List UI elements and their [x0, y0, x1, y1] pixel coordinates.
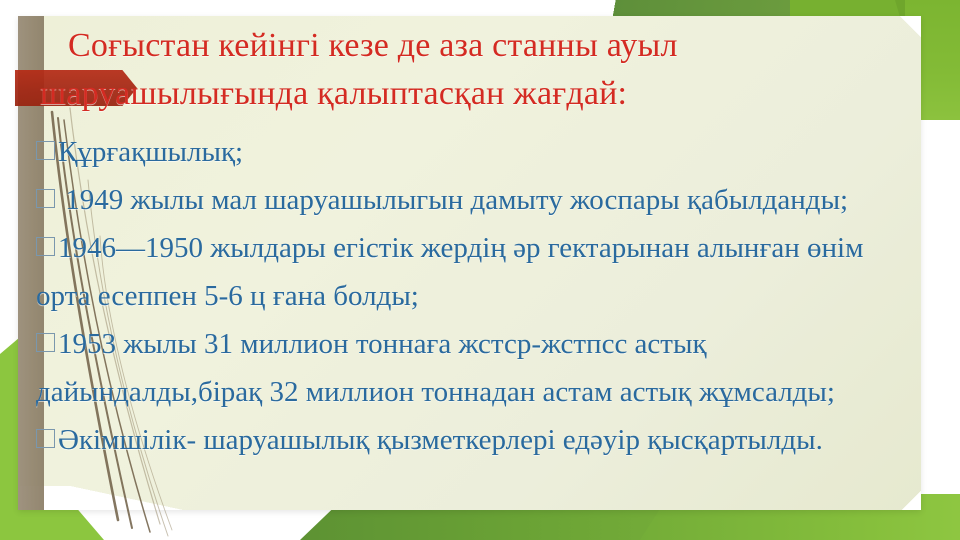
square-bullet-icon [36, 141, 55, 160]
slide-title: Соғыстан кейінгі кезе де аза станны ауыл… [40, 22, 900, 118]
square-bullet-icon [36, 237, 55, 256]
list-item-label: Құрғақшылық; [58, 136, 243, 168]
list-item: Әкімшілік- шаруашылық қызметкерлері едәу… [36, 416, 916, 464]
list-item: 1946—1950 жылдары егістік жердің әр гект… [36, 224, 916, 320]
list-item: 1949 жылы мал шаруашылыгын дамыту жоспар… [36, 176, 916, 224]
list-item-label: 1953 жылы 31 миллион тоннаға жстср-жстпс… [36, 328, 835, 408]
square-bullet-icon [36, 429, 55, 448]
list-item: 1953 жылы 31 миллион тоннаға жстср-жстпс… [36, 320, 916, 416]
list-item-label: 1949 жылы мал шаруашылыгын дамыту жоспар… [58, 184, 848, 216]
list-item-label: 1946—1950 жылдары егістік жердің әр гект… [36, 232, 863, 312]
slide-text-content: Соғыстан кейінгі кезе де аза станны ауыл… [18, 16, 921, 510]
list-item-label: Әкімшілік- шаруашылық қызметкерлері едәу… [58, 424, 823, 456]
title-line-1: Соғыстан кейінгі кезе де аза станны ауыл [68, 27, 678, 64]
list-item: Құрғақшылық; [36, 128, 916, 176]
presentation-slide: Соғыстан кейінгі кезе де аза станны ауыл… [0, 0, 960, 540]
title-line-2: шаруашылығында қалыптасқан жағдай: [40, 75, 627, 112]
square-bullet-icon [36, 333, 55, 352]
bullet-list: Құрғақшылық; 1949 жылы мал шаруашылыгын … [36, 128, 916, 464]
square-bullet-icon [36, 189, 55, 208]
